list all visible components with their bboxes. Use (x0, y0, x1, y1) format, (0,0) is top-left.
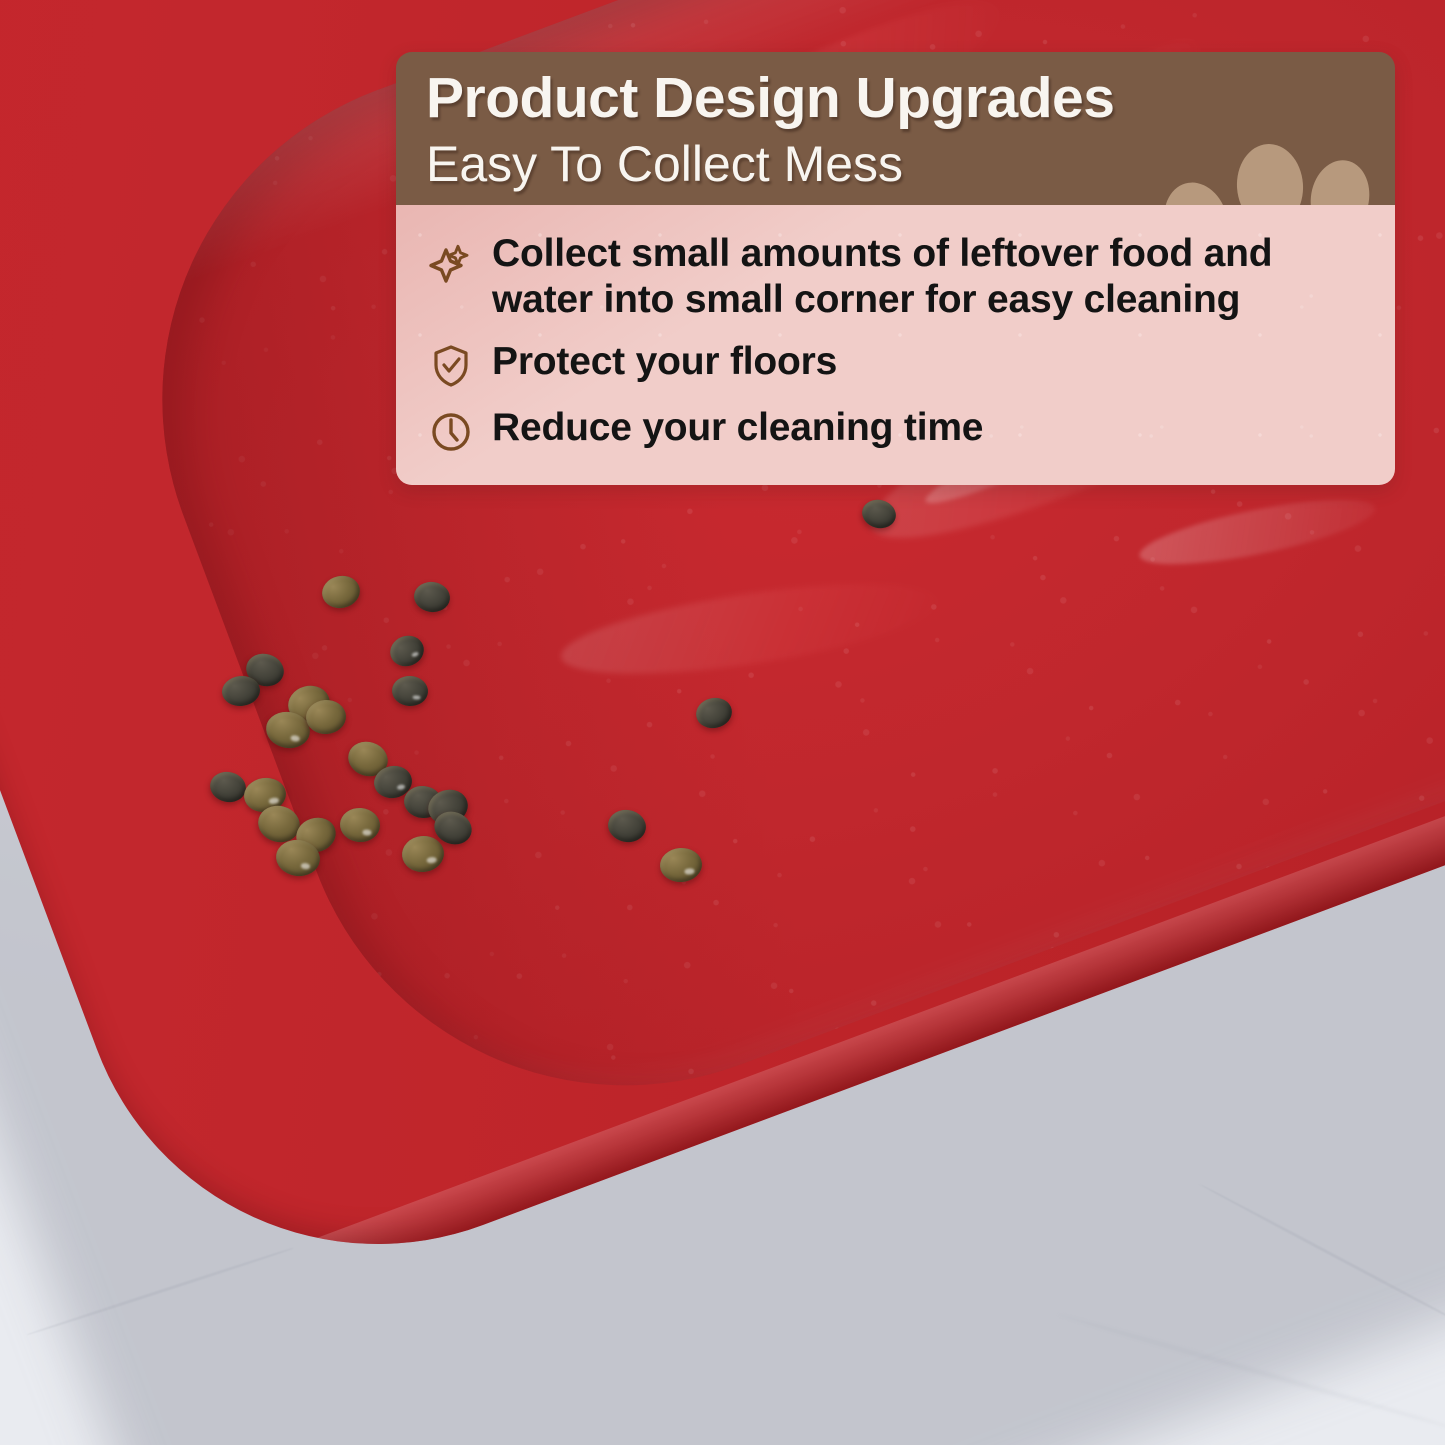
feature-text: Protect your floors (492, 339, 837, 385)
feature-item: Protect your floors (428, 339, 1367, 389)
feature-text: Collect small amounts of leftover food a… (492, 231, 1367, 322)
shield-check-icon (428, 343, 474, 389)
info-panel: Product Design Upgrades Easy To Collect … (396, 52, 1395, 485)
feature-item: Collect small amounts of leftover food a… (428, 231, 1367, 322)
feature-text: Reduce your cleaning time (492, 405, 983, 451)
sparkle-icon (428, 241, 474, 287)
panel-feature-list: Collect small amounts of leftover food a… (396, 205, 1395, 484)
panel-header: Product Design Upgrades Easy To Collect … (396, 52, 1395, 205)
panel-subtitle: Easy To Collect Mess (426, 138, 1369, 191)
panel-title: Product Design Upgrades (426, 68, 1369, 128)
clock-icon (428, 409, 474, 455)
product-infographic: VAGIPET (0, 0, 1445, 1445)
feature-item: Reduce your cleaning time (428, 405, 1367, 455)
